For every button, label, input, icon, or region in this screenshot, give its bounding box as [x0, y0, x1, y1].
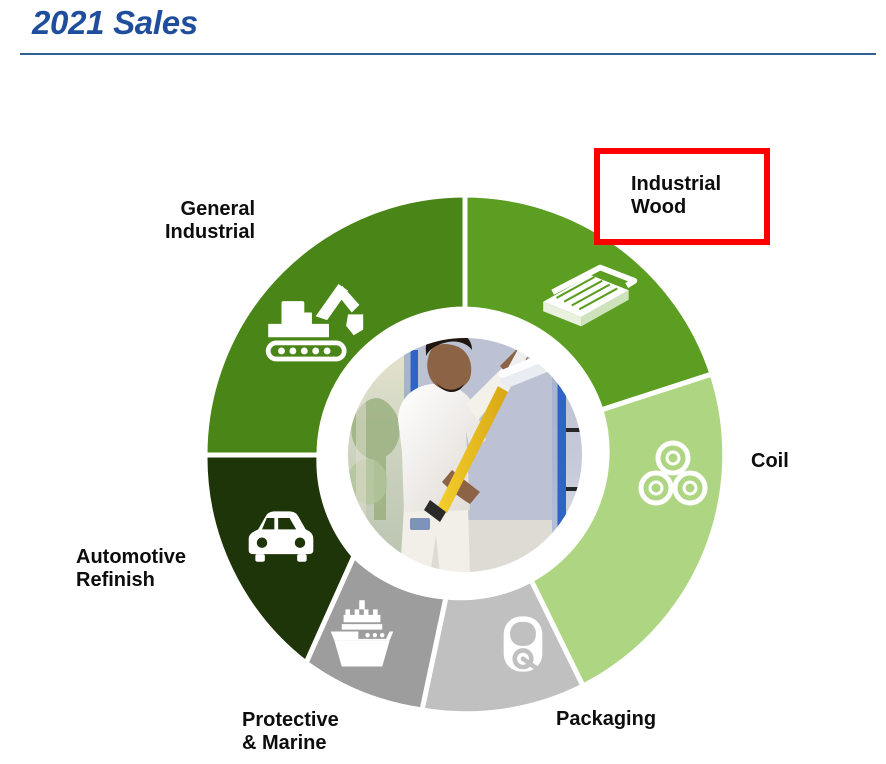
donut-chart-svg: [0, 0, 886, 764]
slice-label-protective-marine: Protective & Marine: [242, 709, 339, 755]
donut-chart: [0, 0, 886, 764]
slice-label-packaging: Packaging: [556, 708, 656, 731]
can-top-icon: [504, 616, 543, 671]
slice-label-coil: Coil: [751, 450, 789, 473]
slice-label-automotive-refinish: Automotive Refinish: [76, 546, 186, 592]
slide-canvas: 2021 Sales: [0, 0, 886, 764]
slice-label-industrial-wood: Industrial Wood: [631, 173, 721, 219]
slice-label-general-industrial: General Industrial: [165, 198, 255, 244]
